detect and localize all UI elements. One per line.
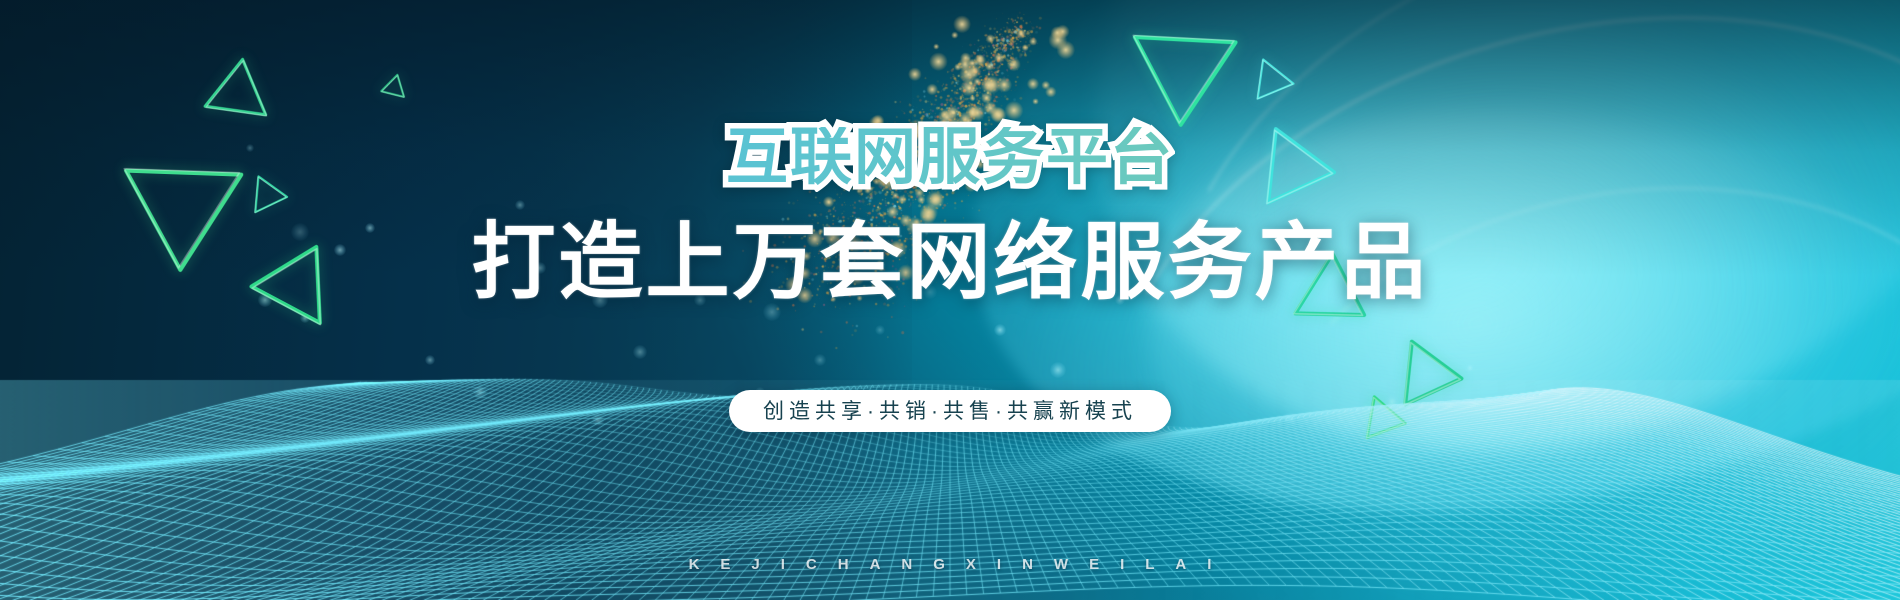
- headline-text: 打造上万套网络服务产品: [0, 222, 1900, 306]
- subtitle-text: 互联网服务平台: [0, 127, 1900, 189]
- hero-banner: 互联网服务平台 互联网服务平台 打造上万套网络服务产品 创造共享·共销·共售·共…: [0, 0, 1900, 600]
- tagline-pill[interactable]: 创造共享·共销·共售·共赢新模式: [729, 390, 1171, 432]
- tagline-pill-text: 创造共享·共销·共售·共赢新模式: [763, 401, 1137, 422]
